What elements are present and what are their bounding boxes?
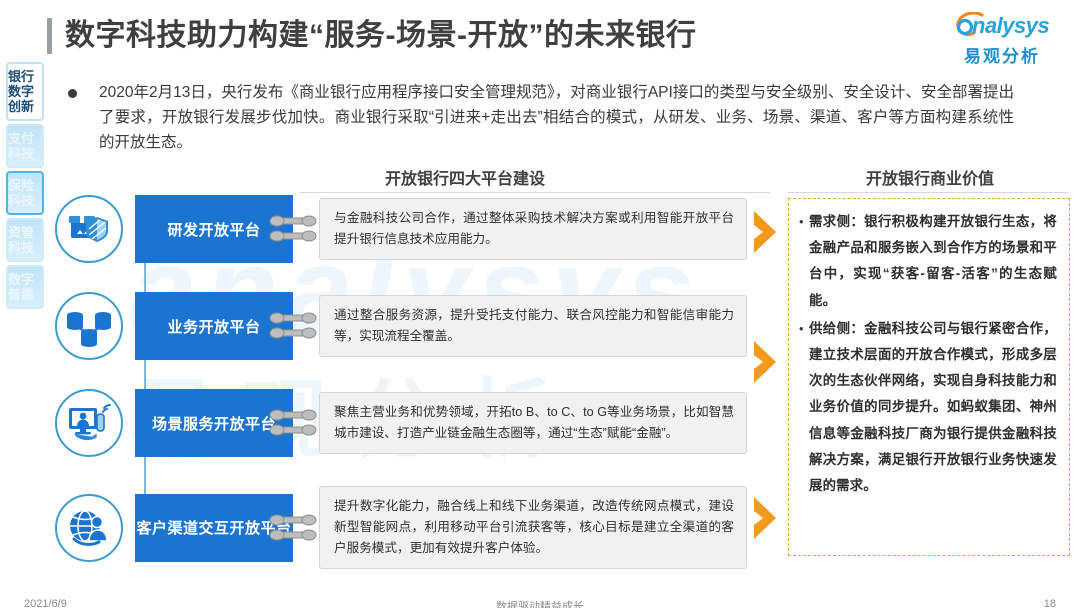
chevron-right-icon [752,494,788,542]
platform-name-box[interactable]: 业务开放平台 [135,292,293,360]
sidebar-item-label: 保险科技 [8,178,42,208]
link-connector-icon [267,309,319,343]
sidebar-item-label: 银行数字创新 [8,69,42,114]
platform-name-box[interactable]: 场景服务开放平台 [135,389,293,457]
link-connector-icon [267,406,319,440]
flow-spine-line [144,235,146,525]
sidebar-item-payment-tech[interactable]: 支付科技 [6,124,44,168]
slide-canvas: analysys 易观分析 数字科技助力构建“服务-场景-开放”的未来银行 na… [0,0,1080,608]
package-shield-icon [55,195,123,263]
page-title: 数字科技助力构建“服务-场景-开放”的未来银行 [47,18,696,54]
sidebar-item-digital-inclusive-finance[interactable]: 数字普惠 [6,265,44,309]
value-item-text: 供给侧：金融科技公司与银行紧密合作，建立技术层面的开放合作模式，形成多层次的生态… [809,316,1057,499]
intro-bullet: 2020年2月13日，央行发布《商业银行应用程序接口安全管理规范》，对商业银行A… [68,80,1028,155]
intro-bullet-text: 2020年2月13日，央行发布《商业银行应用程序接口安全管理规范》，对商业银行A… [99,80,1014,155]
platform-name: 业务开放平台 [167,316,260,337]
brand-logo: nalysys 易观分析 [942,12,1062,67]
platform-name: 研发开放平台 [167,219,260,240]
right-column-heading: 开放银行商业价值 [790,165,1070,189]
platform-description: 通过整合服务资源，提升受托支付能力、联合风控能力和智能信审能力等，实现流程全覆盖… [319,295,747,357]
footer-page-number: 18 [1044,598,1056,608]
platform-description: 与金融科技公司合作，通过整体采购技术解决方案或利用智能开放平台提升银行信息技术应… [319,198,747,260]
sidebar-item-label: 支付科技 [8,131,42,161]
page-title-text: 数字科技助力构建“服务-场景-开放”的未来银行 [65,18,696,54]
globe-person-icon [55,494,123,562]
right-column-rule [788,192,1068,193]
database-nodes-icon [55,292,123,360]
platform-row: 场景服务开放平台 聚焦主营业务和优势领域，开拓to B、to C、to G等业务… [55,389,747,457]
platform-name-box[interactable]: 客户渠道交互开放平台 [135,494,293,562]
chevron-right-icon [752,338,788,386]
chevron-right-icon [752,208,788,256]
left-column-heading: 开放银行四大平台建设 [300,165,630,189]
sidebar-item-bank-digital-innovation[interactable]: 银行数字创新 [6,62,44,121]
platform-row: 业务开放平台 通过整合服务资源，提升受托支付能力、联合风控能力和智能信审能力等，… [55,292,747,360]
value-item: • 供给侧：金融科技公司与银行紧密合作，建立技术层面的开放合作模式，形成多层次的… [799,316,1057,499]
value-item: • 需求侧：银行积极构建开放银行生态，将金融产品和服务嵌入到合作方的场景和平台中… [799,209,1057,314]
logo-wordmark: nalysys [972,13,1049,39]
link-connector-icon [267,511,319,545]
value-item-text: 需求侧：银行积极构建开放银行生态，将金融产品和服务嵌入到合作方的场景和平台中，实… [809,209,1057,314]
platform-name: 场景服务开放平台 [152,413,276,434]
sidebar-item-asset-management-tech[interactable]: 资管科技 [6,218,44,262]
platform-row: 客户渠道交互开放平台 提升数字化能力，融合线上和线下业务渠道，改造传统网点模式，… [55,486,747,569]
sidebar-tabs: 银行数字创新 支付科技 保险科技 资管科技 数字普惠 [6,62,44,312]
platform-description: 提升数字化能力，融合线上和线下业务渠道，改造传统网点模式，建设新型智能网点，利用… [319,486,747,569]
bullet-dot-icon [68,89,77,98]
business-value-panel: • 需求侧：银行积极构建开放银行生态，将金融产品和服务嵌入到合作方的场景和平台中… [788,198,1070,556]
left-column-rule [300,192,770,193]
link-connector-icon [267,212,319,246]
sidebar-item-insurance-tech[interactable]: 保险科技 [6,171,44,215]
sidebar-item-label: 资管科技 [8,225,42,255]
value-bullet-icon: • [799,316,809,499]
sidebar-item-label: 数字普惠 [8,272,42,302]
platform-description: 聚焦主营业务和优势领域，开拓to B、to C、to G等业务场景，比如智慧城市… [319,392,747,454]
value-bullet-icon: • [799,209,809,314]
platform-flow: 研发开放平台 与金融科技公司合作，通过整体采购技术解决方案或利用智能开放平台提升… [55,195,775,560]
platform-row: 研发开放平台 与金融科技公司合作，通过整体采购技术解决方案或利用智能开放平台提升… [55,195,747,263]
platform-name-box[interactable]: 研发开放平台 [135,195,293,263]
monitor-person-icon [55,389,123,457]
title-accent-bar [47,18,52,54]
footer-tagline: 数据驱动精益成长 [0,598,1080,608]
logo-chinese-name: 易观分析 [942,42,1062,67]
